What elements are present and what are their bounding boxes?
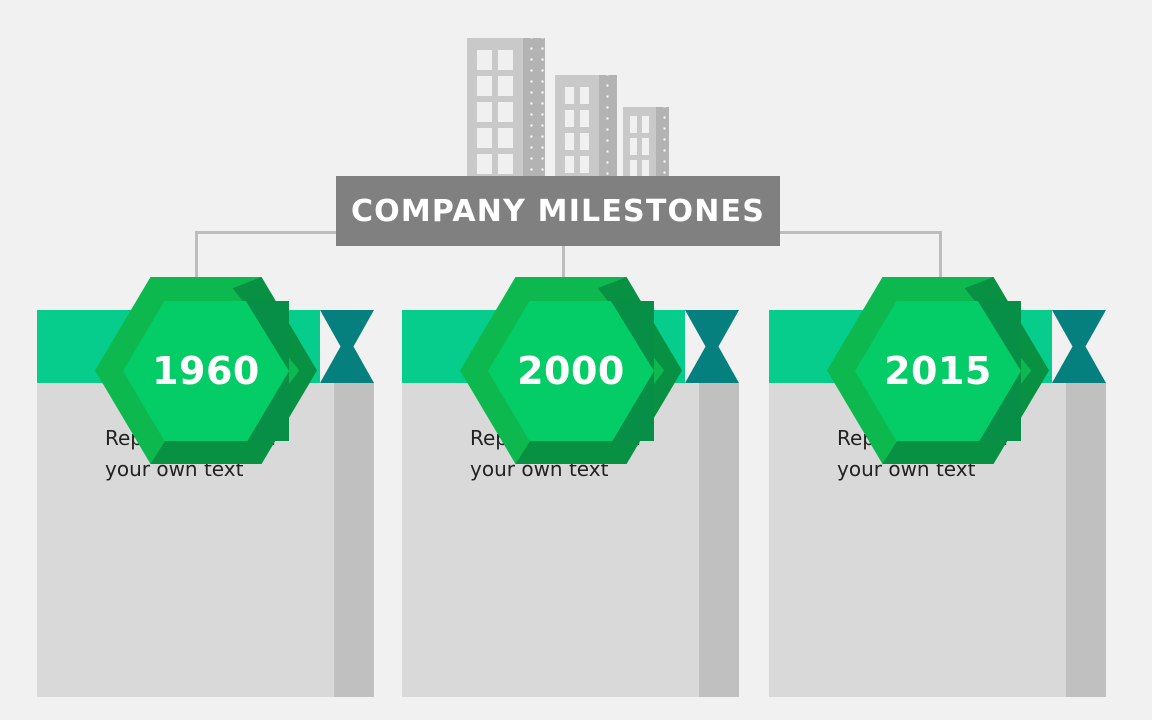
milestone-year-1: 1960 bbox=[95, 277, 317, 464]
milestone-card-1-shadow bbox=[334, 383, 374, 697]
window bbox=[630, 138, 637, 155]
window bbox=[477, 154, 492, 174]
page-title: COMPANY MILESTONES bbox=[351, 194, 765, 229]
window bbox=[580, 87, 589, 104]
window bbox=[580, 110, 589, 127]
window bbox=[642, 160, 649, 177]
window bbox=[630, 116, 637, 133]
milestone-card-2-hexagon[interactable]: 2000 bbox=[460, 277, 682, 464]
window bbox=[477, 102, 492, 122]
window bbox=[565, 110, 574, 127]
window bbox=[477, 76, 492, 96]
milestone-card-3-shadow bbox=[1066, 383, 1106, 697]
milestone-card-3-hexagon[interactable]: 2015 bbox=[827, 277, 1049, 464]
city-buildings-icon bbox=[455, 30, 685, 178]
window bbox=[498, 76, 513, 96]
window bbox=[580, 133, 589, 150]
window bbox=[477, 50, 492, 70]
building-medium-face bbox=[555, 75, 599, 178]
ribbon-chevron-tail bbox=[320, 310, 374, 383]
milestone-card-1-hexagon[interactable]: 1960 bbox=[95, 277, 317, 464]
window bbox=[642, 116, 649, 133]
window bbox=[580, 156, 589, 173]
ribbon-chevron-tail bbox=[1052, 310, 1106, 383]
milestone-card-1[interactable]: Replace this with your own text 1960 bbox=[37, 310, 374, 697]
building-medium-side bbox=[599, 75, 617, 178]
window bbox=[630, 160, 637, 177]
window bbox=[565, 87, 574, 104]
building-short-side bbox=[656, 107, 669, 178]
slide-canvas: COMPANY MILESTONES Replace this with you… bbox=[0, 0, 1152, 720]
milestone-year-2: 2000 bbox=[460, 277, 682, 464]
window bbox=[565, 156, 574, 173]
window bbox=[477, 128, 492, 148]
window bbox=[498, 50, 513, 70]
window bbox=[498, 154, 513, 174]
window bbox=[498, 128, 513, 148]
building-tall-face bbox=[467, 38, 523, 178]
building-medium bbox=[555, 75, 617, 178]
milestone-card-2[interactable]: Replace this with your own text 2000 bbox=[402, 310, 739, 697]
ribbon-chevron-tail bbox=[685, 310, 739, 383]
milestone-card-2-shadow bbox=[699, 383, 739, 697]
window bbox=[498, 102, 513, 122]
building-short-face bbox=[623, 107, 656, 178]
building-tall bbox=[467, 38, 545, 178]
building-tall-side bbox=[523, 38, 545, 178]
building-short bbox=[623, 107, 669, 178]
milestone-card-3[interactable]: Replace this with your own text 2015 bbox=[769, 310, 1106, 697]
title-banner: COMPANY MILESTONES bbox=[336, 176, 780, 246]
milestone-year-3: 2015 bbox=[827, 277, 1049, 464]
window bbox=[565, 133, 574, 150]
window bbox=[642, 138, 649, 155]
